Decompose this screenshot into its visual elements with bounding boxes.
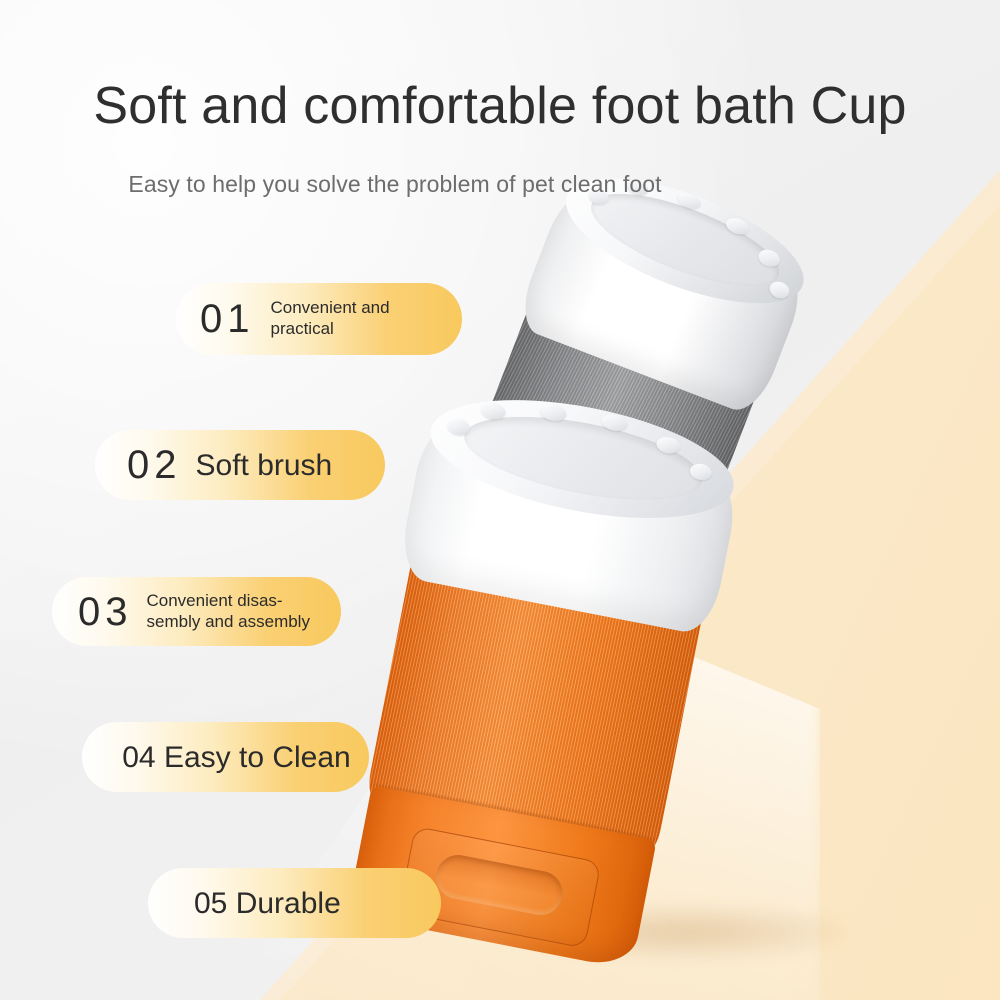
- feature-pill-02[interactable]: 02 Soft brush: [95, 430, 385, 500]
- page-title: Soft and comfortable foot bath Cup: [0, 0, 1000, 135]
- feature-number-03: 03: [78, 592, 133, 632]
- heading-block: Soft and comfortable foot bath Cup Easy …: [0, 0, 1000, 198]
- feature-label-02: Soft brush: [196, 449, 333, 482]
- product-poster: Soft and comfortable foot bath Cup Easy …: [0, 0, 1000, 1000]
- feature-number-02: 02: [127, 445, 182, 485]
- feature-pill-04[interactable]: 04 Easy to Clean: [82, 722, 369, 792]
- feature-text-04: 04 Easy to Clean: [122, 741, 350, 774]
- page-subtitle: Easy to help you solve the problem of pe…: [0, 135, 1000, 198]
- feature-text-05: 05 Durable: [194, 887, 341, 920]
- feature-label-03: Convenient disas- sembly and assembly: [147, 591, 310, 632]
- feature-pill-03[interactable]: 03 Convenient disas- sembly and assembly: [52, 577, 341, 646]
- feature-label-01: Convenient and practical: [271, 298, 390, 339]
- feature-number-01: 01: [200, 299, 255, 339]
- feature-pill-05[interactable]: 05 Durable: [148, 868, 441, 938]
- feature-pill-01[interactable]: 01 Convenient and practical: [176, 283, 462, 355]
